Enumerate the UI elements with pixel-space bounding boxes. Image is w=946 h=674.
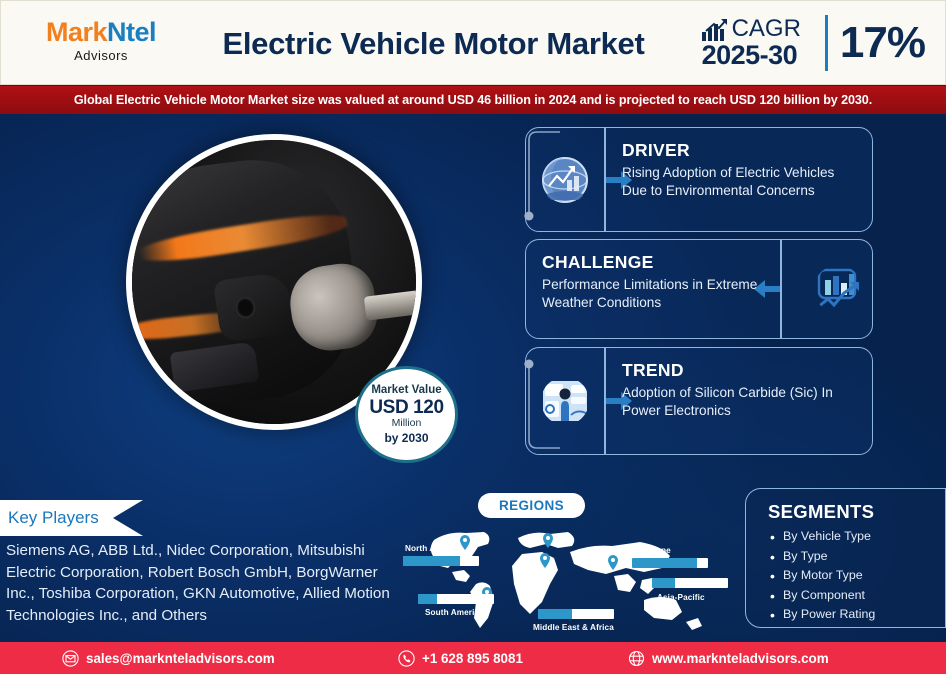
analytics-person-icon bbox=[541, 377, 589, 425]
page-title: Electric Vehicle Motor Market bbox=[186, 1, 681, 86]
driver-box: DRIVER Rising Adoption of Electric Vehic… bbox=[525, 127, 873, 232]
envelope-icon bbox=[62, 650, 79, 667]
trend-title: TREND bbox=[622, 360, 860, 381]
region-bar-south-america bbox=[418, 594, 494, 604]
footer-website[interactable]: www.marknteladvisors.com bbox=[628, 650, 829, 667]
segment-item: By Power Rating bbox=[768, 605, 945, 625]
challenge-divider bbox=[780, 240, 782, 338]
footer-phone[interactable]: +1 628 895 8081 bbox=[398, 650, 523, 667]
cagr-label: CAGR bbox=[732, 17, 801, 41]
region-bar-north-america bbox=[403, 556, 479, 566]
footer-phone-text: +1 628 895 8081 bbox=[422, 651, 523, 666]
region-label-asia-pacific: Asia-Pacific bbox=[657, 593, 705, 602]
region-label-north-america: North America bbox=[405, 544, 462, 553]
cagr-divider bbox=[825, 15, 828, 71]
trend-text: TREND Adoption of Silicon Carbide (Sic) … bbox=[622, 360, 860, 420]
segments-list: By Vehicle Type By Type By Motor Type By… bbox=[768, 527, 945, 625]
region-bar-asia-pacific bbox=[652, 578, 728, 588]
segment-item: By Type bbox=[768, 547, 945, 567]
infographic-page: MarkNtel Advisors Electric Vehicle Motor… bbox=[0, 0, 946, 674]
market-value-label: Market Value bbox=[371, 384, 441, 396]
market-value-badge: Market Value USD 120 Million by 2030 bbox=[355, 366, 458, 463]
cagr-label-row: CAGR bbox=[702, 17, 801, 41]
regions-label: REGIONS bbox=[499, 498, 564, 513]
segments-title: SEGMENTS bbox=[768, 501, 945, 523]
market-value-amount: USD 120 bbox=[369, 398, 443, 419]
header-bar: MarkNtel Advisors Electric Vehicle Motor… bbox=[0, 0, 946, 85]
segments-box: SEGMENTS By Vehicle Type By Type By Moto… bbox=[745, 488, 946, 628]
market-size-banner: Global Electric Vehicle Motor Market siz… bbox=[0, 86, 946, 114]
bar-chart-arrow-icon bbox=[702, 18, 728, 41]
cagr-value: 17% bbox=[840, 21, 925, 65]
market-value-unit: Million bbox=[392, 418, 422, 429]
region-label-europe: Europe bbox=[642, 546, 671, 555]
trend-box: TREND Adoption of Silicon Carbide (Sic) … bbox=[525, 347, 873, 455]
segment-item: By Motor Type bbox=[768, 566, 945, 586]
driver-text: DRIVER Rising Adoption of Electric Vehic… bbox=[622, 140, 860, 200]
footer-bar: sales@marknteladvisors.com +1 628 895 80… bbox=[0, 642, 946, 674]
logo-part-ntel: Ntel bbox=[107, 17, 156, 47]
cagr-text-group: CAGR 2025-30 bbox=[702, 17, 813, 69]
globe-growth-icon bbox=[541, 156, 589, 204]
cagr-years: 2025-30 bbox=[702, 41, 801, 69]
logo-tagline: Advisors bbox=[26, 48, 176, 63]
trend-description: Adoption of Silicon Carbide (Sic) In Pow… bbox=[622, 384, 860, 420]
key-players-label: Key Players bbox=[8, 508, 99, 528]
cagr-block: CAGR 2025-30 17% bbox=[702, 9, 925, 77]
region-label-middle-east-africa: Middle East & Africa bbox=[533, 623, 614, 632]
phone-icon bbox=[398, 650, 415, 667]
regions-pill: REGIONS bbox=[478, 493, 585, 518]
driver-title: DRIVER bbox=[622, 140, 860, 161]
region-label-south-america: South America bbox=[425, 608, 484, 617]
logo-wordmark: MarkNtel bbox=[26, 19, 176, 46]
market-value-year: by 2030 bbox=[384, 432, 428, 445]
company-logo[interactable]: MarkNtel Advisors bbox=[26, 19, 176, 63]
footer-email[interactable]: sales@marknteladvisors.com bbox=[62, 650, 275, 667]
segment-item: By Vehicle Type bbox=[768, 527, 945, 547]
challenge-box: CHALLENGE Performance Limitations in Ext… bbox=[525, 239, 873, 339]
driver-description: Rising Adoption of Electric Vehicles Due… bbox=[622, 164, 860, 200]
bar-chart-trend-icon bbox=[814, 265, 862, 313]
challenge-title: CHALLENGE bbox=[542, 252, 768, 273]
logo-part-mark: Mark bbox=[46, 17, 107, 47]
segment-item: By Component bbox=[768, 586, 945, 606]
footer-website-text: www.marknteladvisors.com bbox=[652, 651, 829, 666]
key-players-list: Siemens AG, ABB Ltd., Nidec Corporation,… bbox=[6, 540, 396, 626]
challenge-text: CHALLENGE Performance Limitations in Ext… bbox=[542, 252, 768, 312]
challenge-description: Performance Limitations in Extreme Weath… bbox=[542, 276, 768, 312]
globe-icon bbox=[628, 650, 645, 667]
footer-email-text: sales@marknteladvisors.com bbox=[86, 651, 275, 666]
region-bar-europe bbox=[632, 558, 708, 568]
region-bar-middle-east-africa bbox=[538, 609, 614, 619]
